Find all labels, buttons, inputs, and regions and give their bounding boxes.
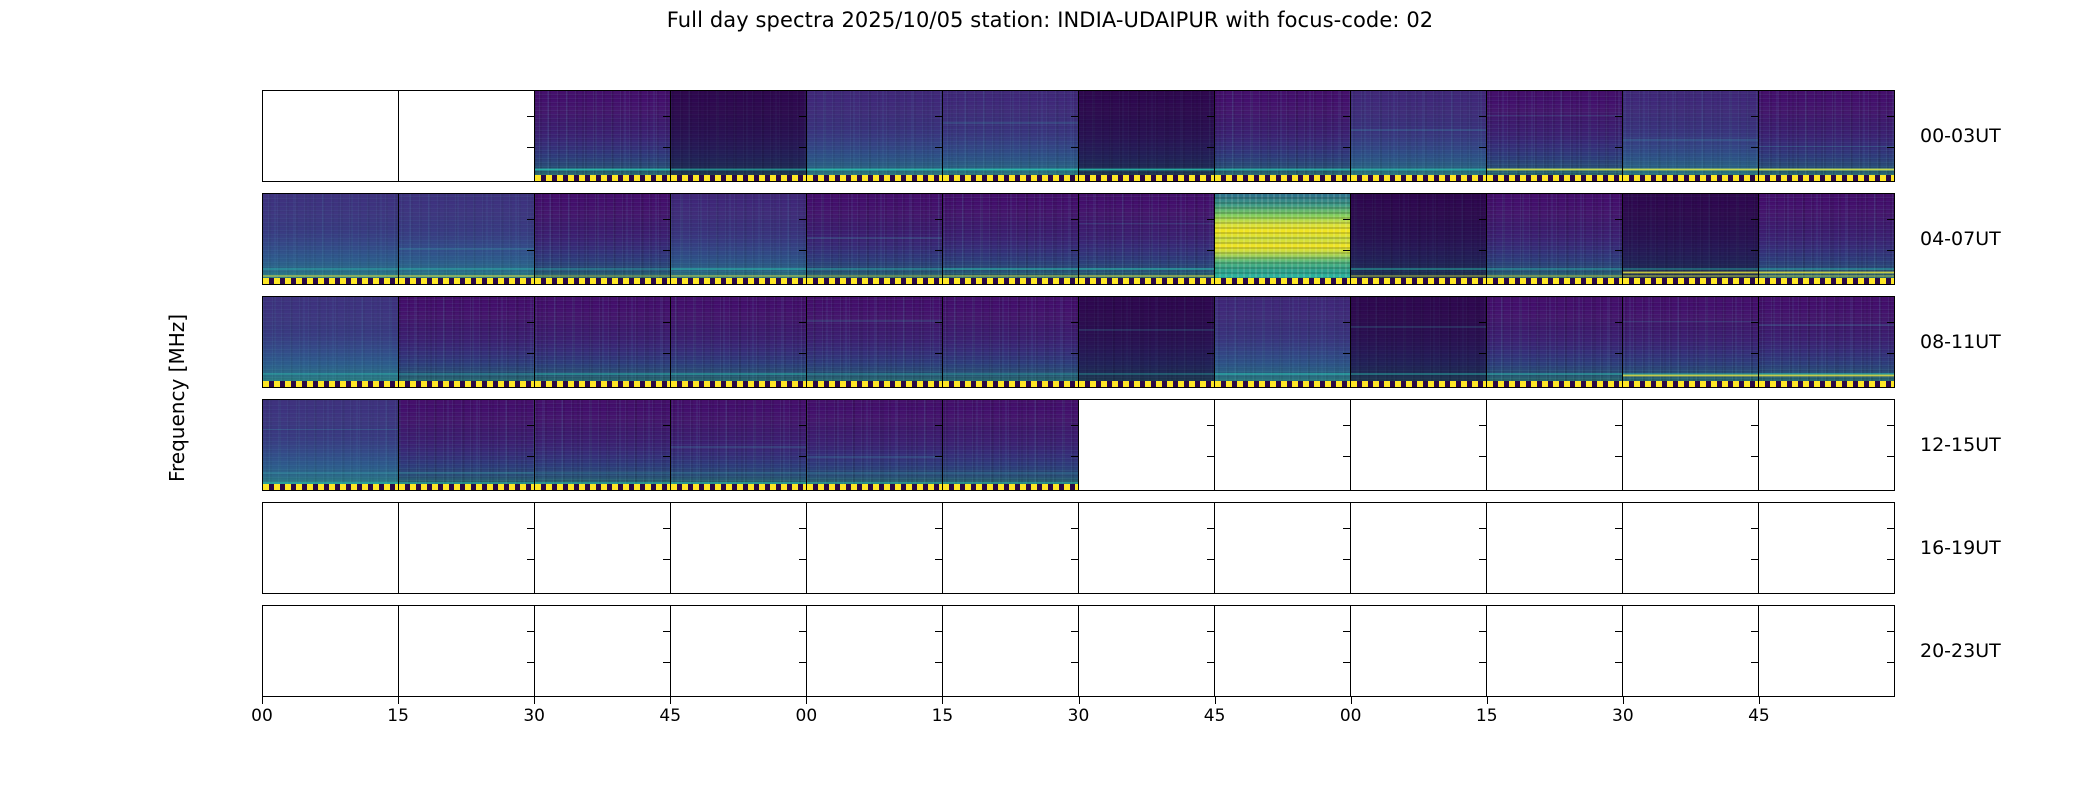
spectrogram-panel <box>1623 606 1759 696</box>
y-axis-tick <box>1343 147 1350 148</box>
y-axis-tick <box>663 559 670 560</box>
y-axis-tick <box>1887 322 1894 323</box>
spectrogram-image <box>943 297 1078 387</box>
spectrogram-row-12-15ut: 200300 <box>262 399 1895 491</box>
y-axis-tick <box>1071 322 1078 323</box>
saturated-channel-strip <box>399 484 534 490</box>
emission-band <box>263 429 398 431</box>
spectrogram-image <box>671 194 806 284</box>
spectrogram-image <box>1623 194 1758 284</box>
y-axis-tick <box>527 322 534 323</box>
emission-band <box>399 268 534 271</box>
y-axis-tick <box>527 116 534 117</box>
y-axis-tick <box>1207 322 1214 323</box>
saturated-channel-strip <box>943 278 1078 284</box>
row-panels: 200300 <box>263 297 1894 387</box>
y-axis-tick <box>663 116 670 117</box>
y-axis-tick <box>1479 662 1486 663</box>
y-axis-label: Frequency [MHz] <box>163 90 191 705</box>
spectrogram-panel <box>1623 503 1759 593</box>
y-axis-tick <box>799 456 806 457</box>
y-axis-tick <box>1887 116 1894 117</box>
row-time-label: 16-19UT <box>1920 537 2001 559</box>
x-axis-tick-label: 00 <box>1340 706 1362 726</box>
spectrogram-image <box>1623 91 1758 181</box>
saturated-channel-strip <box>1759 175 1894 181</box>
y-axis-tick <box>1615 528 1622 529</box>
spectrogram-image <box>1351 91 1486 181</box>
spectrogram-panel <box>943 503 1079 593</box>
y-axis-tick <box>1615 219 1622 220</box>
spectrogram-image <box>943 91 1078 181</box>
emission-band <box>1487 275 1622 277</box>
y-axis-tick <box>1479 250 1486 251</box>
emission-band <box>1487 115 1622 117</box>
spectrogram-row-04-07ut: 200300 <box>262 193 1895 285</box>
emission-band <box>399 275 534 277</box>
x-axis-tick <box>1759 697 1760 704</box>
spectrogram-panel <box>1623 91 1759 181</box>
emission-band <box>807 275 942 277</box>
emission-band <box>943 268 1078 271</box>
spectrogram-row-00-03ut: 200300 <box>262 90 1895 182</box>
spectrogram-image <box>1623 297 1758 387</box>
spectrogram-image <box>1079 194 1214 284</box>
y-axis-tick <box>527 631 534 632</box>
spectrogram-panel <box>1759 91 1894 181</box>
y-axis-tick <box>1207 116 1214 117</box>
spectrogram-image <box>399 400 534 490</box>
saturated-channel-strip <box>535 484 670 490</box>
emission-band <box>943 122 1078 124</box>
spectrogram-panel <box>535 194 671 284</box>
y-axis-tick <box>527 353 534 354</box>
emission-band <box>1351 168 1486 170</box>
saturated-channel-strip <box>807 175 942 181</box>
y-axis-tick <box>935 322 942 323</box>
y-axis-tick <box>1071 250 1078 251</box>
spectrogram-panel <box>1623 400 1759 490</box>
emission-band <box>1351 268 1486 271</box>
y-axis-tick <box>799 147 806 148</box>
row-time-label: 12-15UT <box>1920 434 2001 456</box>
y-axis-tick <box>1751 631 1758 632</box>
saturated-channel-strip <box>399 278 534 284</box>
y-axis-tick <box>1751 322 1758 323</box>
saturated-channel-strip <box>671 381 806 387</box>
emission-band <box>943 373 1078 375</box>
saturated-channel-strip <box>1079 381 1214 387</box>
spectrogram-panel <box>671 297 807 387</box>
x-axis-tick-label: 15 <box>1476 706 1498 726</box>
emission-band <box>1079 223 1214 225</box>
y-axis-tick <box>1751 559 1758 560</box>
y-axis-tick <box>1207 631 1214 632</box>
spectrogram-panel <box>399 606 535 696</box>
y-axis-tick <box>1207 425 1214 426</box>
y-axis-tick <box>1615 456 1622 457</box>
emission-band <box>943 275 1078 277</box>
spectrogram-image <box>535 297 670 387</box>
y-axis-tick <box>1071 631 1078 632</box>
saturated-band <box>1623 271 1758 274</box>
y-axis-tick <box>935 116 942 117</box>
saturated-channel-strip <box>1623 175 1758 181</box>
saturated-channel-strip <box>1351 381 1486 387</box>
spectrogram-image <box>399 194 534 284</box>
y-axis-tick <box>1887 528 1894 529</box>
saturated-channel-strip <box>807 381 942 387</box>
spectrogram-image <box>1079 91 1214 181</box>
saturated-channel-strip <box>399 381 534 387</box>
y-axis-tick <box>799 353 806 354</box>
emission-band <box>263 472 398 474</box>
spectrogram-panel: 200300 <box>263 400 399 490</box>
spectrogram-panel <box>943 297 1079 387</box>
y-axis-tick <box>1071 353 1078 354</box>
emission-band <box>1351 326 1486 328</box>
emission-band <box>399 373 534 375</box>
spectrogram-panel <box>399 194 535 284</box>
y-axis-tick <box>527 425 534 426</box>
spectrogram-panel <box>1079 194 1215 284</box>
spectrogram-image <box>1759 297 1894 387</box>
spectrogram-panel <box>535 503 671 593</box>
spectrogram-image <box>1487 194 1622 284</box>
spectrogram-panel <box>1487 503 1623 593</box>
emission-band <box>671 268 806 271</box>
saturated-band <box>1487 168 1622 171</box>
y-axis-tick <box>1479 322 1486 323</box>
spectrogram-image <box>807 400 942 490</box>
x-axis-tick <box>1623 697 1624 704</box>
x-axis-tick <box>1351 697 1352 704</box>
saturated-channel-strip <box>1351 175 1486 181</box>
spectrogram-panel <box>1079 606 1215 696</box>
saturated-band <box>1623 168 1758 171</box>
y-axis-tick <box>1615 559 1622 560</box>
y-axis-tick <box>1479 456 1486 457</box>
emission-band <box>1079 168 1214 170</box>
spectrogram-panel <box>1487 91 1623 181</box>
emission-band <box>263 373 398 375</box>
y-axis-tick <box>1615 322 1622 323</box>
x-axis-tick-label: 00 <box>251 706 273 726</box>
y-axis-tick <box>1207 662 1214 663</box>
spectrogram-panel: 200300 <box>263 91 399 181</box>
spectrogram-panel <box>807 400 943 490</box>
y-axis-tick <box>1343 353 1350 354</box>
row-time-label: 00-03UT <box>1920 125 2001 147</box>
saturated-band <box>1623 374 1758 377</box>
y-axis-tick <box>1071 147 1078 148</box>
saturated-channel-strip <box>1623 278 1758 284</box>
saturated-channel-strip <box>1759 381 1894 387</box>
y-axis-tick <box>935 528 942 529</box>
spectrogram-image <box>943 400 1078 490</box>
emission-band <box>535 268 670 271</box>
saturated-channel-strip <box>535 278 670 284</box>
y-axis-tick <box>935 662 942 663</box>
spectrogram-panel <box>807 606 943 696</box>
y-axis-tick <box>799 116 806 117</box>
spectrogram-panel <box>1215 606 1351 696</box>
spectrogram-row-16-19ut: 200300 <box>262 502 1895 594</box>
spectrogram-image <box>1487 297 1622 387</box>
spectrogram-image <box>535 91 670 181</box>
spectrogram-panel <box>671 503 807 593</box>
saturated-channel-strip <box>1623 381 1758 387</box>
y-axis-tick <box>527 219 534 220</box>
row-panels: 200300 <box>263 606 1894 696</box>
x-axis-tick <box>534 697 535 704</box>
emission-band <box>1623 275 1758 277</box>
emission-band <box>399 472 534 474</box>
y-axis-tick <box>799 631 806 632</box>
spectrogram-image <box>1487 91 1622 181</box>
y-axis-tick <box>1751 528 1758 529</box>
spectrogram-panel <box>1351 503 1487 593</box>
y-axis-tick <box>1479 559 1486 560</box>
x-axis-tick-label: 15 <box>387 706 409 726</box>
y-axis-tick <box>663 250 670 251</box>
y-axis-tick <box>1887 631 1894 632</box>
spectrogram-panel <box>1079 91 1215 181</box>
emission-band <box>807 456 942 458</box>
y-axis-tick <box>1343 631 1350 632</box>
x-axis-tick-label: 45 <box>1748 706 1770 726</box>
y-axis-tick <box>799 559 806 560</box>
spectrogram-panel <box>671 606 807 696</box>
spectrogram-panel: 200300 <box>263 297 399 387</box>
spectrogram-panel <box>671 194 807 284</box>
y-axis-tick <box>1207 528 1214 529</box>
emission-band <box>807 237 942 239</box>
emission-band <box>1623 321 1758 323</box>
y-axis-tick <box>935 631 942 632</box>
spectrogram-panel <box>1623 194 1759 284</box>
y-axis-tick <box>1751 116 1758 117</box>
x-axis-tick <box>1487 697 1488 704</box>
spectrogram-panel <box>943 606 1079 696</box>
spectrogram-image <box>943 194 1078 284</box>
y-axis-tick <box>527 250 534 251</box>
y-axis-tick <box>1887 219 1894 220</box>
saturated-channel-strip <box>1487 175 1622 181</box>
row-panels: 200300 <box>263 503 1894 593</box>
y-axis-tick <box>1343 250 1350 251</box>
emission-band <box>399 248 534 250</box>
x-axis-tick-label: 15 <box>932 706 954 726</box>
spectrogram-image <box>263 297 398 387</box>
spectrogram-image <box>807 194 942 284</box>
x-axis-tick-label: 30 <box>523 706 545 726</box>
spectrogram-row-20-23ut: 200300 <box>262 605 1895 697</box>
x-axis-tick <box>1215 697 1216 704</box>
spectrogram-panel <box>1759 400 1894 490</box>
y-axis-tick <box>1887 250 1894 251</box>
spectrogram-image <box>263 194 398 284</box>
saturated-channel-strip <box>1487 381 1622 387</box>
saturated-channel-strip <box>807 484 942 490</box>
x-axis: 001530450015304500153045 <box>262 697 1895 737</box>
spectrogram-panel <box>399 400 535 490</box>
y-axis-tick <box>1071 425 1078 426</box>
spectrogram-panel <box>943 91 1079 181</box>
spectrogram-panel <box>1759 503 1894 593</box>
emission-band <box>807 472 942 474</box>
y-axis-tick <box>1343 456 1350 457</box>
y-axis-tick <box>935 219 942 220</box>
saturated-channel-strip <box>1215 175 1350 181</box>
y-axis-tick <box>1343 116 1350 117</box>
y-axis-tick <box>799 219 806 220</box>
spectrogram-image <box>1079 297 1214 387</box>
spectrogram-panel <box>399 503 535 593</box>
spectrogram-panel <box>1215 400 1351 490</box>
emission-band <box>1623 139 1758 141</box>
saturated-channel-strip <box>263 381 398 387</box>
y-axis-tick <box>1615 353 1622 354</box>
x-axis-tick <box>670 697 671 704</box>
saturated-channel-strip <box>1487 278 1622 284</box>
emission-band <box>807 320 942 322</box>
spectrogram-image <box>671 297 806 387</box>
spectrogram-row-08-11ut: 200300 <box>262 296 1895 388</box>
row-panels: 200300 <box>263 194 1894 284</box>
spectrogram-panel <box>807 91 943 181</box>
y-axis-tick <box>1479 528 1486 529</box>
y-axis-tick <box>1071 662 1078 663</box>
emission-band <box>535 168 670 170</box>
spectrogram-image <box>807 91 942 181</box>
x-axis-tick-label: 00 <box>796 706 818 726</box>
y-axis-tick <box>1343 322 1350 323</box>
spectrogram-panel <box>535 400 671 490</box>
emission-band <box>943 168 1078 170</box>
y-axis-tick <box>935 250 942 251</box>
saturated-channel-strip <box>1351 278 1486 284</box>
emission-band <box>535 373 670 375</box>
row-time-label: 08-11UT <box>1920 331 2001 353</box>
saturated-channel-strip <box>535 175 670 181</box>
y-axis-tick <box>663 528 670 529</box>
spectrogram-panel <box>671 400 807 490</box>
y-axis-tick <box>1343 219 1350 220</box>
emission-band <box>263 268 398 271</box>
emission-band <box>671 373 806 375</box>
y-axis-tick <box>799 425 806 426</box>
spectrogram-image <box>535 194 670 284</box>
spectrogram-panel <box>1215 91 1351 181</box>
spectrogram-panel <box>1215 503 1351 593</box>
spectrogram-panel: 200300 <box>263 606 399 696</box>
page-title: Full day spectra 2025/10/05 station: IND… <box>0 8 2100 32</box>
saturated-channel-strip <box>671 175 806 181</box>
emission-band <box>1487 373 1622 375</box>
saturated-channel-strip <box>1079 175 1214 181</box>
spectrogram-image <box>1351 297 1486 387</box>
y-axis-tick <box>1071 219 1078 220</box>
y-axis-tick <box>799 662 806 663</box>
x-axis-tick <box>1079 697 1080 704</box>
y-axis-tick <box>527 456 534 457</box>
saturated-channel-strip <box>943 381 1078 387</box>
spectrogram-image <box>399 297 534 387</box>
row-panels: 200300 <box>263 91 1894 181</box>
saturated-channel-strip <box>1079 278 1214 284</box>
saturated-channel-strip <box>671 484 806 490</box>
y-axis-tick <box>1071 528 1078 529</box>
y-axis-tick <box>1615 116 1622 117</box>
y-axis-tick <box>1751 662 1758 663</box>
y-axis-tick <box>663 631 670 632</box>
spectrogram-panel <box>1079 503 1215 593</box>
y-axis-tick <box>1479 147 1486 148</box>
y-axis-tick <box>935 456 942 457</box>
y-axis-tick <box>1071 116 1078 117</box>
emission-band <box>535 275 670 277</box>
y-axis-tick <box>663 353 670 354</box>
spectrogram-panel <box>943 400 1079 490</box>
y-axis-tick <box>1071 559 1078 560</box>
spectrogram-panel <box>1215 297 1351 387</box>
emission-band <box>1215 168 1350 170</box>
saturated-band <box>1759 168 1894 171</box>
emission-band <box>1079 268 1214 271</box>
saturated-channel-strip <box>263 278 398 284</box>
saturated-band <box>1759 271 1894 274</box>
saturated-channel-strip <box>263 484 398 490</box>
y-axis-tick <box>1887 456 1894 457</box>
spectrogram-panel <box>1759 297 1894 387</box>
emission-band <box>1623 268 1758 271</box>
spectrogram-panel <box>1487 606 1623 696</box>
emission-band <box>263 275 398 277</box>
emission-band <box>1079 275 1214 277</box>
emission-band <box>671 472 806 474</box>
y-axis-tick <box>1751 147 1758 148</box>
y-axis-tick <box>935 559 942 560</box>
spectrogram-image <box>671 400 806 490</box>
spectrogram-image <box>1215 91 1350 181</box>
spectrogram-panel <box>1487 297 1623 387</box>
emission-band <box>943 472 1078 474</box>
spectrogram-panel <box>1079 297 1215 387</box>
emission-band <box>1759 275 1894 277</box>
y-axis-tick <box>663 147 670 148</box>
spectrogram-panel <box>535 606 671 696</box>
emission-band <box>1351 129 1486 131</box>
y-axis-tick <box>1343 662 1350 663</box>
saturated-channel-strip <box>807 278 942 284</box>
y-axis-tick <box>1615 631 1622 632</box>
y-axis-tick <box>1751 250 1758 251</box>
y-axis-tick <box>1071 456 1078 457</box>
spectrogram-panel <box>535 297 671 387</box>
y-axis-tick <box>527 528 534 529</box>
y-axis-tick <box>1343 425 1350 426</box>
y-axis-tick <box>1615 662 1622 663</box>
saturated-channel-strip <box>1759 278 1894 284</box>
spectrogram-image <box>263 400 398 490</box>
y-axis-tick <box>1751 456 1758 457</box>
y-axis-tick <box>935 425 942 426</box>
emission-band <box>1759 324 1894 326</box>
emission-band <box>535 472 670 474</box>
emission-band <box>1351 373 1486 375</box>
y-axis-tick <box>663 322 670 323</box>
